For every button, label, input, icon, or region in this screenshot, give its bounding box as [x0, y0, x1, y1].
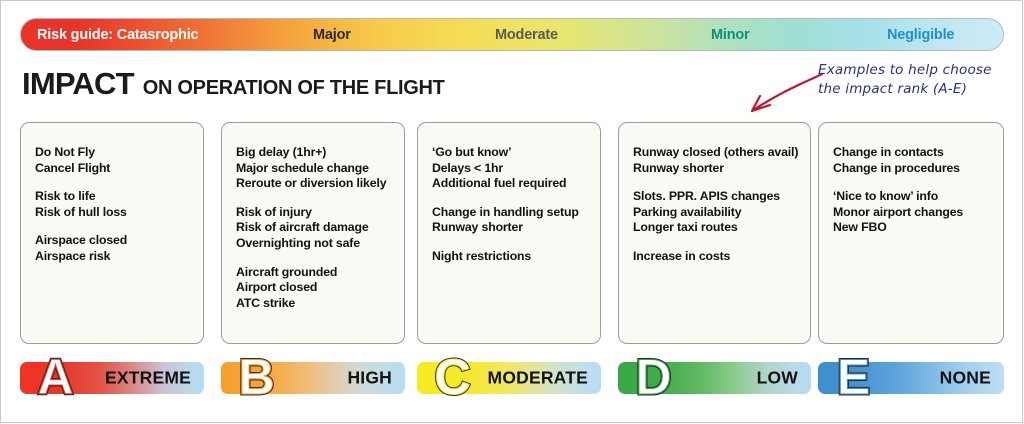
impact-line: Risk of hull loss [35, 205, 203, 221]
page-title-sub: ON OPERATION OF THE FLIGHT [143, 77, 445, 100]
impact-line: Monor airport changes [833, 205, 1003, 221]
impact-group: Airspace closedAirspace risk [35, 233, 203, 264]
impact-line: Parking availability [633, 205, 810, 221]
impact-line: New FBO [833, 220, 1003, 236]
rank-label-e: NONE [940, 368, 991, 389]
risk-level-catastrophic: Risk guide: Catasrophic [37, 27, 198, 43]
risk-level-minor: Minor [711, 27, 749, 43]
impact-line: Airspace risk [35, 249, 203, 265]
impact-card-b: Big delay (1hr+)Major schedule changeRer… [221, 122, 405, 344]
rank-label-d: LOW [757, 368, 798, 389]
impact-group: Do Not FlyCancel Flight [35, 145, 203, 176]
impact-line: Cancel Flight [35, 161, 203, 177]
rank-bar-e: EENONE [818, 362, 1004, 394]
impact-group: Risk of injuryRisk of aircraft damageOve… [236, 205, 404, 252]
impact-line: Runway shorter [432, 220, 600, 236]
rank-letter-e: EE [827, 349, 879, 407]
svg-text:B: B [238, 349, 273, 405]
impact-line: Risk of aircraft damage [236, 220, 404, 236]
rank-letter-c: CC [426, 349, 478, 407]
svg-text:E: E [837, 349, 869, 405]
impact-line: Additional fuel required [432, 176, 600, 192]
rank-letter-b: BB [230, 349, 282, 407]
impact-group: Runway closed (others avail)Runway short… [633, 145, 810, 176]
annotation-line-2: the impact rank (A-E) [818, 80, 1024, 99]
impact-group: Night restrictions [432, 249, 600, 265]
rank-bar-d: DDLOW [618, 362, 811, 394]
svg-text:A: A [37, 349, 72, 405]
impact-group: Risk to lifeRisk of hull loss [35, 189, 203, 220]
impact-group: Increase in costs [633, 249, 810, 265]
rank-bar-a: AAEXTREME [20, 362, 204, 394]
impact-group: Aircraft groundedAirport closedATC strik… [236, 265, 404, 312]
curved-arrow-down-left-icon [730, 72, 830, 120]
rank-bar-c: CCMODERATE [417, 362, 601, 394]
impact-cards: Do Not FlyCancel FlightRisk to lifeRisk … [0, 122, 1024, 344]
risk-level-moderate: Moderate [495, 27, 558, 43]
impact-line: Longer taxi routes [633, 220, 810, 236]
impact-line: Aircraft grounded [236, 265, 404, 281]
impact-group: Change in contactsChange in procedures [833, 145, 1003, 176]
impact-group: Change in handling setupRunway shorter [432, 205, 600, 236]
impact-line: Airport closed [236, 280, 404, 296]
risk-guide-bar: Risk guide: Catasrophic Major Moderate M… [20, 18, 1004, 51]
impact-line: Do Not Fly [35, 145, 203, 161]
rank-letter-a: AA [29, 349, 81, 407]
impact-line: Major schedule change [236, 161, 404, 177]
impact-line: Risk of injury [236, 205, 404, 221]
rank-bars: AAEXTREMEBBHIGHCCMODERATEDDLOWEENONE [0, 356, 1024, 402]
svg-text:C: C [434, 349, 469, 405]
annotation-line-1: Examples to help choose [818, 61, 1024, 80]
impact-line: Change in contacts [833, 145, 1003, 161]
page-title-main: IMPACT [22, 66, 134, 102]
impact-card-c: ‘Go but know’Delays < 1hrAdditional fuel… [417, 122, 601, 344]
risk-guide-labels: Risk guide: Catasrophic Major Moderate M… [21, 19, 1003, 50]
impact-line: Runway closed (others avail) [633, 145, 810, 161]
impact-card-e: Change in contactsChange in procedures‘N… [818, 122, 1004, 344]
impact-card-a: Do Not FlyCancel FlightRisk to lifeRisk … [20, 122, 204, 344]
impact-line: Delays < 1hr [432, 161, 600, 177]
impact-line: ATC strike [236, 296, 404, 312]
impact-line: Change in handling setup [432, 205, 600, 221]
impact-line: ‘Go but know’ [432, 145, 600, 161]
rank-label-b: HIGH [347, 368, 392, 389]
impact-group: Slots. PPR. APIS changesParking availabi… [633, 189, 810, 236]
page-title: IMPACT ON OPERATION OF THE FLIGHT [22, 66, 445, 102]
impact-line: Night restrictions [432, 249, 600, 265]
impact-line: Reroute or diversion likely [236, 176, 404, 192]
rank-bar-b: BBHIGH [221, 362, 405, 394]
risk-level-label-0: Catasrophic [117, 27, 199, 43]
impact-card-d: Runway closed (others avail)Runway short… [618, 122, 811, 344]
rank-label-c: MODERATE [488, 368, 588, 389]
svg-text:D: D [635, 349, 670, 405]
impact-line: Slots. PPR. APIS changes [633, 189, 810, 205]
impact-group: ‘Go but know’Delays < 1hrAdditional fuel… [432, 145, 600, 192]
impact-group: ‘Nice to know’ infoMonor airport changes… [833, 189, 1003, 236]
impact-line: Increase in costs [633, 249, 810, 265]
risk-level-major: Major [313, 27, 351, 43]
risk-guide-lead-label: Risk guide: [37, 27, 113, 43]
impact-line: Risk to life [35, 189, 203, 205]
impact-line: Overnighting not safe [236, 236, 404, 252]
impact-line: Airspace closed [35, 233, 203, 249]
rank-letter-d: DD [627, 349, 679, 407]
impact-line: Big delay (1hr+) [236, 145, 404, 161]
risk-level-negligible: Negligible [887, 27, 954, 43]
impact-line: Change in procedures [833, 161, 1003, 177]
annotation-text: Examples to help choose the impact rank … [818, 61, 1024, 99]
impact-line: Runway shorter [633, 161, 810, 177]
impact-line: ‘Nice to know’ info [833, 189, 1003, 205]
impact-group: Big delay (1hr+)Major schedule changeRer… [236, 145, 404, 192]
rank-label-a: EXTREME [105, 368, 191, 389]
